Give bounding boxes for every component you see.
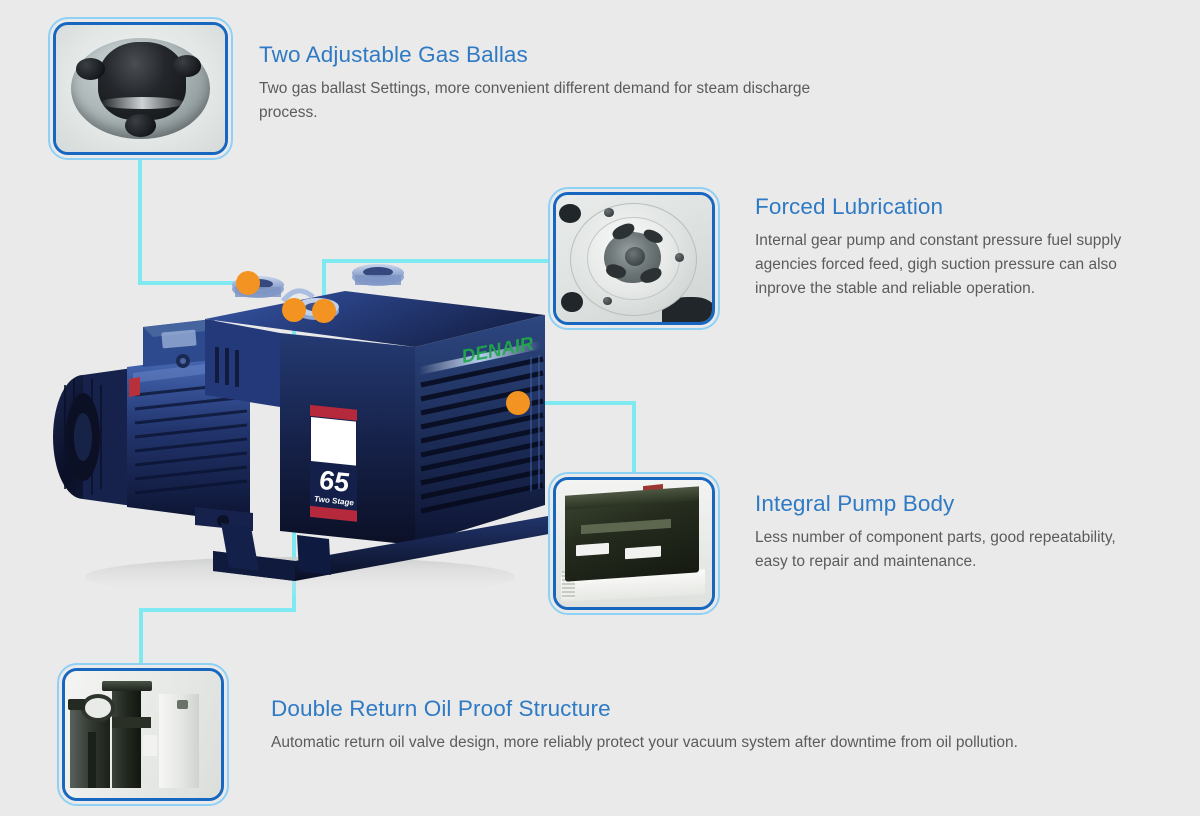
- thumbnail-forced-lubrication[interactable]: [548, 187, 720, 330]
- connector-pump-body-vertical: [632, 401, 636, 475]
- oil-return-valve-photo: [65, 671, 221, 798]
- feature-title-gas-ballast: Two Adjustable Gas Ballas: [259, 43, 819, 68]
- feature-description-forced-lubrication: Internal gear pump and constant pressure…: [755, 229, 1147, 301]
- hotspot-oil-return[interactable]: [282, 298, 306, 322]
- connector-oil-return-vertical-bottom: [139, 608, 143, 664]
- thumbnail-forced-lubrication-inner: [553, 192, 715, 325]
- pump-body-casting-photo: [556, 480, 712, 607]
- feature-block-forced-lubrication: Forced Lubrication Internal gear pump an…: [755, 195, 1147, 301]
- thumbnail-gas-ballast[interactable]: [48, 17, 233, 160]
- gas-ballast-cap-photo: [56, 25, 225, 152]
- feature-block-integral-pump-body: Integral Pump Body Less number of compon…: [755, 492, 1135, 574]
- feature-title-integral-pump-body: Integral Pump Body: [755, 492, 1135, 517]
- feature-description-double-return-oil-proof: Automatic return oil valve design, more …: [271, 731, 1151, 755]
- connector-oil-return-horizontal: [139, 608, 296, 612]
- feature-description-gas-ballast: Two gas ballast Settings, more convenien…: [259, 77, 819, 125]
- hotspot-forced-lubrication[interactable]: [312, 299, 336, 323]
- thumbnail-double-return-oil-proof-inner: [62, 668, 224, 801]
- feature-title-forced-lubrication: Forced Lubrication: [755, 195, 1147, 220]
- thumbnail-integral-pump-body-inner: [553, 477, 715, 610]
- thumbnail-gas-ballast-inner: [53, 22, 228, 155]
- gear-pump-faceplate-photo: [556, 195, 712, 322]
- thumbnail-integral-pump-body[interactable]: [548, 472, 720, 615]
- hotspot-gas-ballast-left[interactable]: [236, 271, 260, 295]
- feature-block-double-return-oil-proof: Double Return Oil Proof Structure Automa…: [271, 697, 1151, 755]
- feature-block-gas-ballast: Two Adjustable Gas Ballas Two gas ballas…: [259, 43, 819, 125]
- thumbnail-double-return-oil-proof[interactable]: [57, 663, 229, 806]
- model-number-text: 65: [319, 464, 350, 498]
- hotspot-pump-body[interactable]: [506, 391, 530, 415]
- feature-description-integral-pump-body: Less number of component parts, good rep…: [755, 526, 1135, 574]
- feature-title-double-return-oil-proof: Double Return Oil Proof Structure: [271, 697, 1151, 722]
